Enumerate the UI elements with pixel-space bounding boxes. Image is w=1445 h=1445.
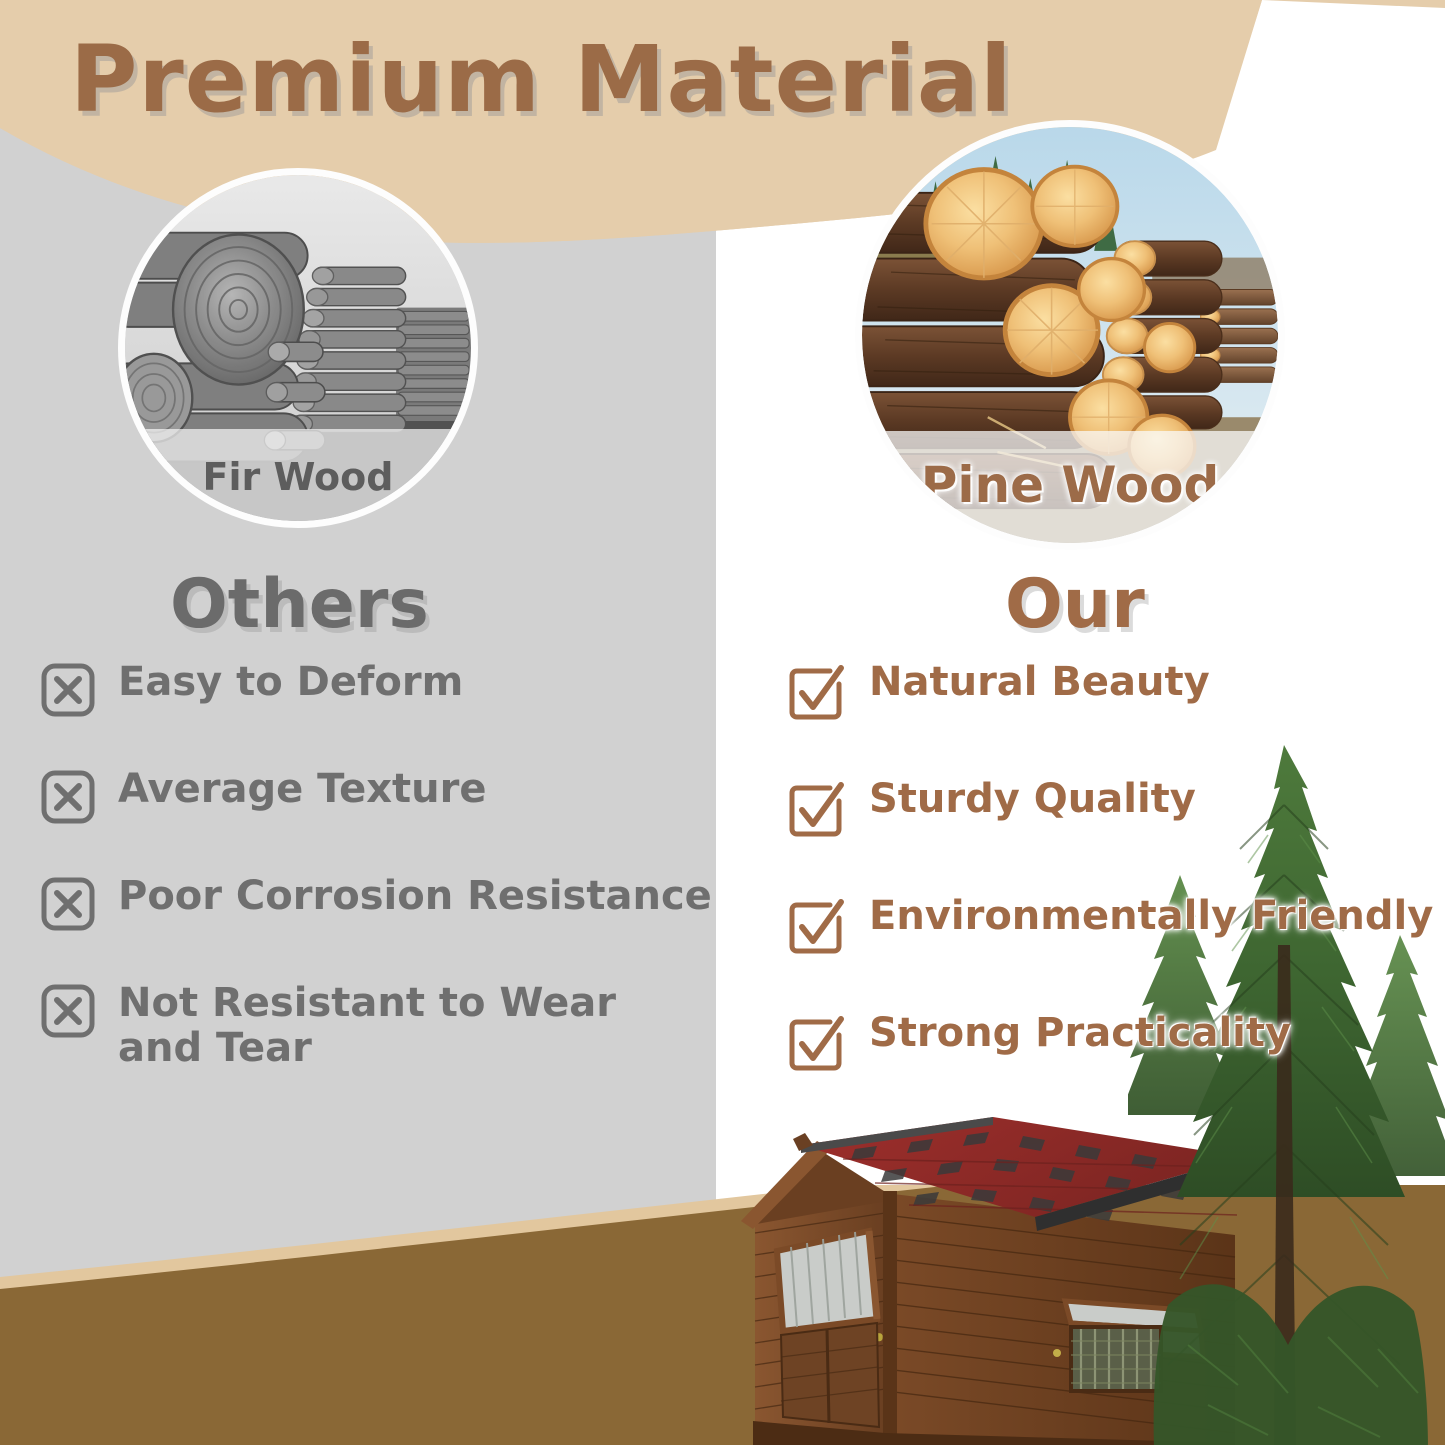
x-mark-icon: [40, 769, 96, 825]
grayscale-log-pile-image: [125, 175, 471, 521]
x-mark-icon: [40, 983, 96, 1039]
list-item-label: Natural Beauty: [869, 660, 1210, 705]
list-item-label: Strong Practicality: [869, 1011, 1291, 1056]
page-title: Premium Material: [70, 26, 1013, 133]
pine-wood-badge: Pine Wood: [855, 120, 1285, 550]
check-mark-icon: [785, 662, 847, 724]
list-item-label: Sturdy Quality: [869, 777, 1196, 822]
list-item: Poor Corrosion Resistance: [40, 874, 720, 932]
check-mark-icon: [785, 896, 847, 958]
color-pine-log-pile-image: [862, 127, 1278, 543]
infographic-page: Premium Material: [0, 0, 1445, 1445]
list-item: Natural Beauty: [785, 660, 1445, 724]
list-item-label: Easy to Deform: [118, 660, 463, 705]
x-mark-icon: [40, 662, 96, 718]
list-item: Average Texture: [40, 767, 720, 825]
list-item: Not Resistant to Wear and Tear: [40, 981, 720, 1071]
check-mark-icon: [785, 779, 847, 841]
list-item-label: Environmentally Friendly: [869, 894, 1433, 939]
list-item: Environmentally Friendly: [785, 894, 1445, 958]
list-item: Sturdy Quality: [785, 777, 1445, 841]
fir-wood-badge: Fir Wood: [118, 168, 478, 528]
others-feature-list: Easy to Deform Average Texture Poor Corr…: [40, 660, 720, 1120]
list-item: Easy to Deform: [40, 660, 720, 718]
list-item-label: Not Resistant to Wear and Tear: [118, 981, 638, 1071]
our-feature-list: Natural Beauty Sturdy Quality Environmen…: [785, 660, 1445, 1128]
others-heading: Others: [170, 565, 429, 644]
list-item-label: Poor Corrosion Resistance: [118, 874, 712, 919]
our-heading: Our: [1005, 565, 1145, 644]
check-mark-icon: [785, 1013, 847, 1075]
list-item: Strong Practicality: [785, 1011, 1445, 1075]
list-item-label: Average Texture: [118, 767, 487, 812]
x-mark-icon: [40, 876, 96, 932]
